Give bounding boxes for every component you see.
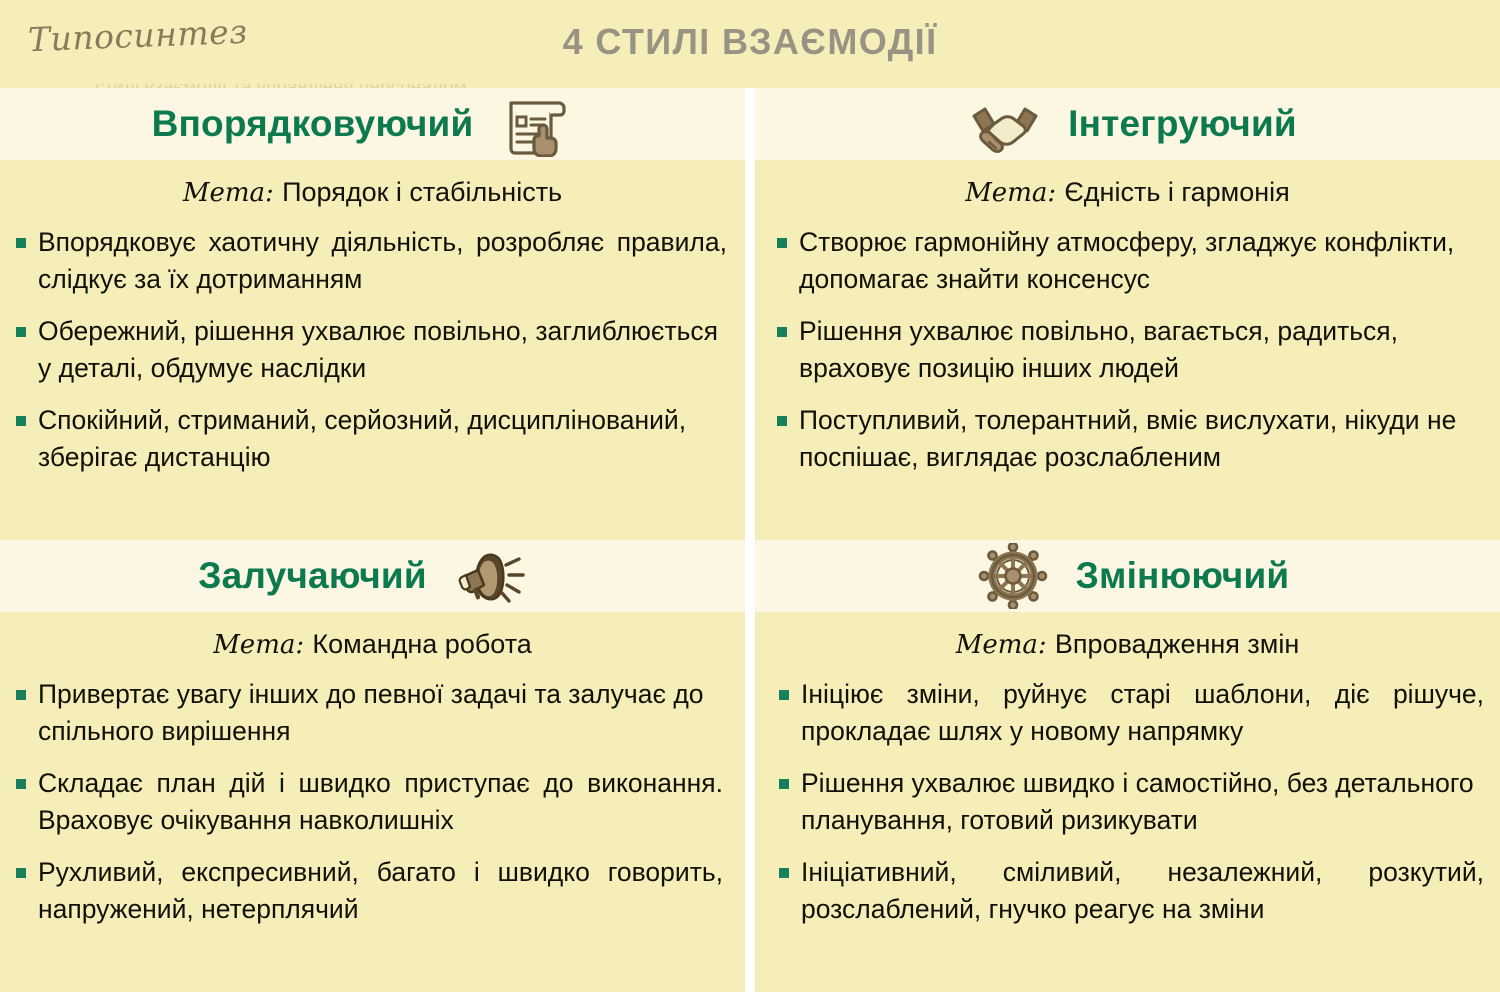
- quadrant-header-integrating: Інтегруючий: [755, 88, 1500, 160]
- infographic-poster: Типосинтез 4 СТИЛІ ВЗАЄМОДІЇ стилі взаєм…: [0, 0, 1500, 992]
- list-item: Рішення ухвалює швидко і самостійно, без…: [779, 765, 1484, 838]
- style-name-engaging: Залучаючий: [198, 555, 427, 597]
- handshake-icon: [968, 91, 1042, 157]
- list-item-text: Створює гармонійну атмосферу, згладжує к…: [799, 224, 1488, 297]
- styles-grid: Впорядковуючий Мета: Порядок і ста: [0, 88, 1500, 992]
- list-item-text: Впорядковує хаотичну діяльність, розробл…: [38, 224, 727, 297]
- quadrant-changing: Змінюючий Мета: Впровадження змін Ініцію…: [755, 540, 1500, 992]
- goal-line-engaging: Мета: Командна робота: [0, 629, 745, 660]
- list-item: Створює гармонійну атмосферу, згладжує к…: [777, 224, 1488, 297]
- quadrant-header-engaging: Залучаючий: [0, 540, 745, 612]
- trait-list-engaging: Привертає увагу інших до певної задачі т…: [0, 676, 745, 927]
- list-item-text: Обережний, рішення ухвалює повільно, заг…: [38, 313, 727, 386]
- goal-line-changing: Мета: Впровадження змін: [755, 629, 1500, 660]
- list-item: Складає план дій і швидко приступає до в…: [16, 765, 723, 838]
- checklist-hand-icon: [499, 91, 573, 157]
- list-item-text: Спокійний, стриманий, серйозний, дисципл…: [38, 402, 727, 475]
- list-item: Поступливий, толерантний, вміє вислухати…: [777, 402, 1488, 475]
- trait-list-changing: Ініціює зміни, руйнує старі шаблони, діє…: [755, 676, 1500, 927]
- list-item-text: Привертає увагу інших до певної задачі т…: [38, 676, 723, 749]
- goal-label: Мета:: [965, 178, 1064, 208]
- quadrant-integrating: Інтегруючий Мета: Єдність і гармонія Ств…: [755, 88, 1500, 540]
- style-name-ordering: Впорядковуючий: [152, 103, 474, 145]
- style-name-changing: Змінюючий: [1076, 555, 1290, 597]
- bullet-square-icon: [16, 779, 26, 789]
- trait-list-ordering: Впорядковує хаотичну діяльність, розробл…: [0, 224, 745, 475]
- goal-line-ordering: Мета: Порядок і стабільність: [0, 177, 745, 208]
- quadrant-header-ordering: Впорядковуючий: [0, 88, 745, 160]
- bullet-square-icon: [779, 779, 789, 789]
- list-item: Рухливий, експресивний, багато і швидко …: [16, 854, 723, 927]
- list-item: Привертає увагу інших до певної задачі т…: [16, 676, 723, 749]
- vertical-divider: [745, 88, 755, 992]
- goal-label: Мета:: [956, 630, 1055, 660]
- list-item: Впорядковує хаотичну діяльність, розробл…: [16, 224, 727, 297]
- bullet-square-icon: [16, 868, 26, 878]
- bullet-square-icon: [779, 868, 789, 878]
- list-item: Спокійний, стриманий, серйозний, дисципл…: [16, 402, 727, 475]
- bullet-square-icon: [777, 238, 787, 248]
- goal-label: Мета:: [213, 630, 312, 660]
- list-item-text: Рішення ухвалює швидко і самостійно, без…: [801, 765, 1484, 838]
- list-item: Рішення ухвалює повільно, вагається, рад…: [777, 313, 1488, 386]
- megaphone-icon: [453, 543, 527, 609]
- goal-label: Мета:: [183, 178, 282, 208]
- style-name-integrating: Інтегруючий: [1068, 103, 1297, 145]
- goal-value: Впровадження змін: [1055, 629, 1299, 659]
- quadrant-engaging: Залучаючий: [0, 540, 745, 992]
- quadrant-header-changing: Змінюючий: [755, 540, 1500, 612]
- list-item: Ініціює зміни, руйнує старі шаблони, діє…: [779, 676, 1484, 749]
- goal-value: Єдність і гармонія: [1064, 177, 1289, 207]
- list-item-text: Рішення ухвалює повільно, вагається, рад…: [799, 313, 1488, 386]
- bullet-square-icon: [779, 690, 789, 700]
- page-title: 4 СТИЛІ ВЗАЄМОДІЇ: [563, 21, 938, 63]
- brand-logo: Типосинтез: [27, 12, 248, 59]
- list-item: Обережний, рішення ухвалює повільно, заг…: [16, 313, 727, 386]
- poster-header: Типосинтез 4 СТИЛІ ВЗАЄМОДІЇ стилі взаєм…: [0, 0, 1500, 88]
- bullet-square-icon: [777, 327, 787, 337]
- list-item-text: Ініціює зміни, руйнує старі шаблони, діє…: [801, 676, 1484, 749]
- list-item-text: Рухливий, експресивний, багато і швидко …: [38, 854, 723, 927]
- bullet-square-icon: [16, 327, 26, 337]
- bullet-square-icon: [16, 416, 26, 426]
- list-item: Ініціативний, сміливий, незалежний, розк…: [779, 854, 1484, 927]
- goal-value: Порядок і стабільність: [282, 177, 562, 207]
- goal-line-integrating: Мета: Єдність і гармонія: [755, 177, 1500, 208]
- ships-wheel-icon: [976, 543, 1050, 609]
- bullet-square-icon: [16, 690, 26, 700]
- bullet-square-icon: [777, 416, 787, 426]
- goal-value: Командна робота: [312, 629, 531, 659]
- list-item-text: Ініціативний, сміливий, незалежний, розк…: [801, 854, 1484, 927]
- trait-list-integrating: Створює гармонійну атмосферу, згладжує к…: [755, 224, 1500, 475]
- bullet-square-icon: [16, 238, 26, 248]
- quadrant-ordering: Впорядковуючий Мета: Порядок і ста: [0, 88, 745, 540]
- list-item-text: Поступливий, толерантний, вміє вислухати…: [799, 402, 1488, 475]
- list-item-text: Складає план дій і швидко приступає до в…: [38, 765, 723, 838]
